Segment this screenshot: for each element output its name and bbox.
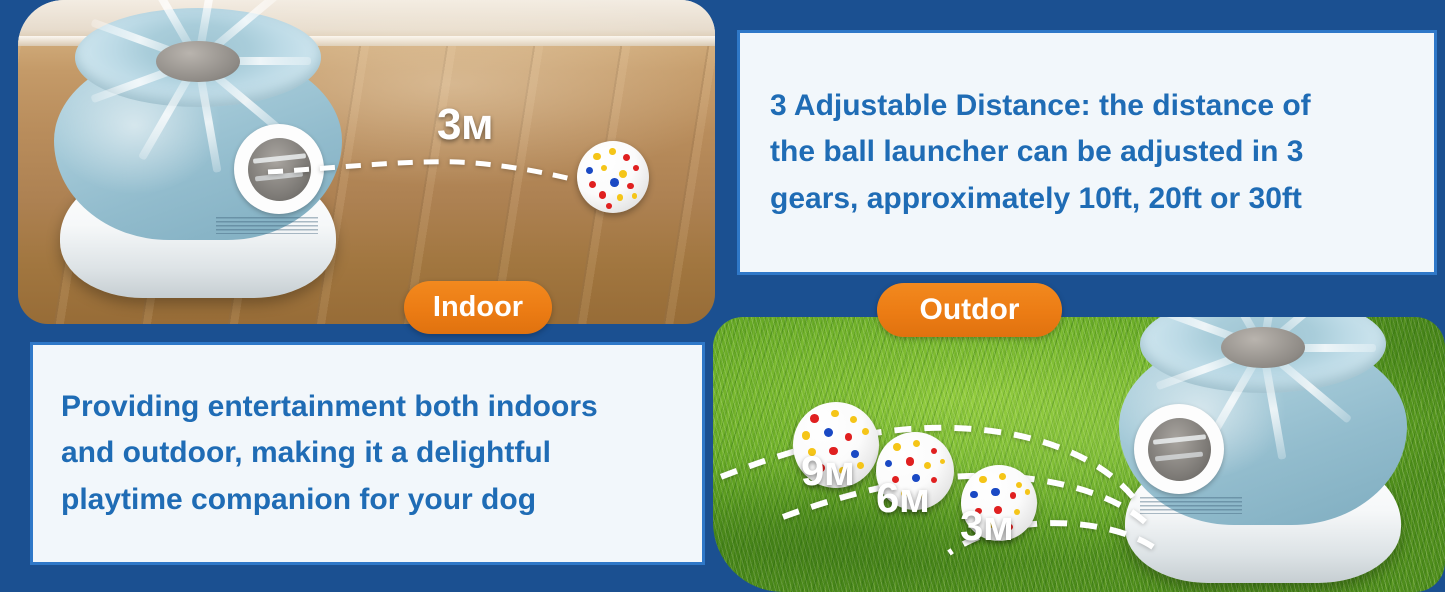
ball-indoor — [577, 141, 649, 213]
outdoor-distance-label-6m: 6м — [876, 474, 929, 522]
promo-image: 3м — [0, 0, 1445, 592]
device-funnel-hole — [156, 41, 240, 82]
outdoor-distance-label-3m: 3м — [960, 502, 1013, 550]
top-text-line-1: 3 Adjustable Distance: the distance of — [770, 83, 1404, 130]
device-funnel-hole — [1221, 327, 1305, 368]
badge-outdoor: Outdor — [877, 283, 1062, 337]
device-launch-port-inner — [248, 138, 311, 201]
device-funnel — [75, 8, 321, 107]
outdoor-photo: 9м 6м 3м — [713, 317, 1445, 592]
ball-launcher-device-indoor — [48, 8, 348, 298]
bottom-text-line-2: and outdoor, making it a delightful — [61, 430, 674, 477]
entertainment-textbox: Providing entertainment both indoors and… — [30, 342, 705, 565]
adjustable-distance-textbox: 3 Adjustable Distance: the distance of t… — [737, 30, 1437, 275]
indoor-distance-label: 3м — [437, 100, 493, 150]
ball-launcher-device-outdoor — [1113, 317, 1413, 583]
indoor-photo: 3м — [18, 0, 715, 324]
outdoor-distance-label-9m: 9м — [801, 447, 854, 495]
badge-indoor: Indoor — [404, 281, 552, 334]
device-launch-port-inner — [1148, 418, 1211, 481]
device-launch-port — [1134, 404, 1224, 494]
top-text-line-2: the ball launcher can be adjusted in 3 — [770, 129, 1404, 176]
top-text-line-3: gears, approximately 10ft, 20ft or 30ft — [770, 176, 1404, 223]
device-warning-label — [1140, 497, 1242, 514]
device-warning-label — [216, 217, 318, 234]
bottom-text-line-1: Providing entertainment both indoors — [61, 384, 674, 431]
device-launch-port — [234, 124, 324, 214]
bottom-text-line-3: playtime companion for your dog — [61, 477, 674, 524]
